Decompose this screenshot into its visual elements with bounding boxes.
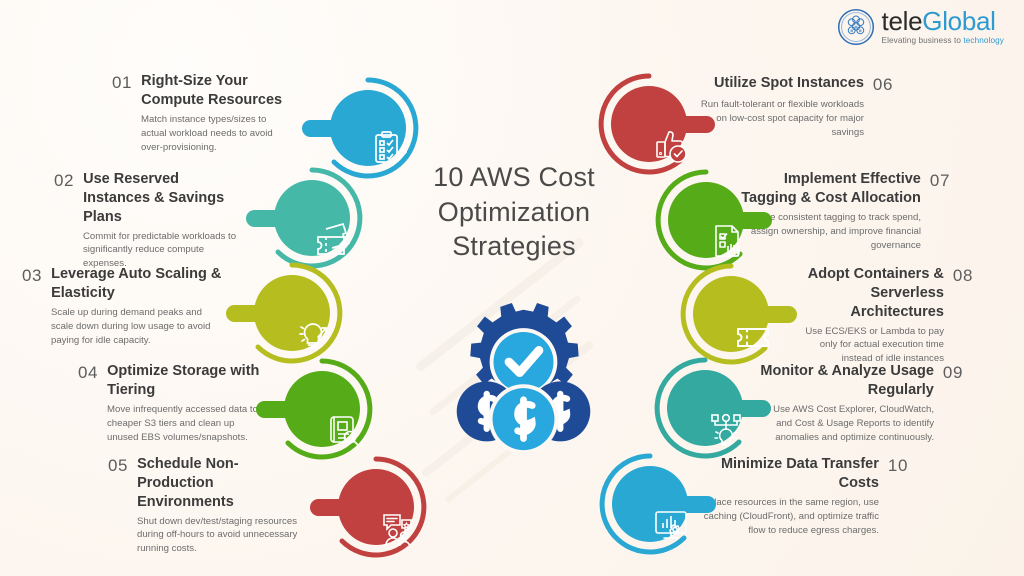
item-description: Run fault-tolerant or flexible workloads… bbox=[698, 98, 864, 140]
badge-07[interactable] bbox=[654, 168, 758, 272]
badge-03[interactable] bbox=[240, 261, 344, 365]
item-number: 08 bbox=[953, 265, 973, 286]
badge-06[interactable] bbox=[597, 72, 701, 176]
badge-01[interactable] bbox=[316, 76, 420, 180]
brand-logo: teleGlobal Elevating business to technol… bbox=[837, 8, 1004, 46]
item-title: Implement Effective Tagging & Cost Alloc… bbox=[740, 170, 921, 208]
item-title: Monitor & Analyze Usage Regularly bbox=[758, 362, 934, 400]
badge-02[interactable] bbox=[260, 166, 364, 270]
brand-tagline: Elevating business to technology bbox=[882, 37, 1004, 45]
item-description: Place resources in the same region, use … bbox=[700, 496, 879, 538]
item-description: Shut down dev/test/staging resources dur… bbox=[137, 515, 313, 557]
item-number: 04 bbox=[78, 362, 98, 383]
item-number: 02 bbox=[54, 170, 74, 191]
item-description: Match instance types/sizes to actual wor… bbox=[141, 113, 292, 155]
item-title: Minimize Data Transfer Costs bbox=[700, 455, 879, 493]
item-title: Utilize Spot Instances bbox=[714, 74, 864, 93]
badge-09[interactable] bbox=[653, 356, 757, 460]
item-title: Schedule Non-Production Environments bbox=[137, 455, 313, 512]
item-number: 03 bbox=[22, 265, 42, 286]
badge-08[interactable] bbox=[679, 262, 783, 366]
item-number: 10 bbox=[888, 455, 908, 476]
item-number: 07 bbox=[930, 170, 950, 191]
item-number: 01 bbox=[112, 72, 132, 93]
item-number: 09 bbox=[943, 362, 963, 383]
item-title: Optimize Storage with Tiering bbox=[107, 362, 268, 400]
gear-check-dollar-coins-icon bbox=[446, 302, 601, 452]
item-description: Use ECS/EKS or Lambda to pay only for ac… bbox=[788, 325, 944, 367]
network-cluster-icon bbox=[837, 8, 875, 46]
badge-05[interactable] bbox=[324, 455, 428, 559]
item-title: Use Reserved Instances & Savings Plans bbox=[83, 170, 244, 227]
item-number: 06 bbox=[873, 74, 893, 95]
infographic-canvas: teleGlobal Elevating business to technol… bbox=[0, 0, 1024, 576]
badge-10[interactable] bbox=[598, 452, 702, 556]
item-description: Scale up during demand peaks and scale d… bbox=[51, 306, 222, 348]
item-description: Use AWS Cost Explorer, CloudWatch, and C… bbox=[758, 403, 934, 445]
brand-name: teleGlobal bbox=[882, 8, 1004, 34]
item-number: 05 bbox=[108, 455, 128, 476]
badge-04[interactable] bbox=[270, 357, 374, 461]
item-title: Leverage Auto Scaling & Elasticity bbox=[51, 265, 222, 303]
item-title: Right-Size Your Compute Resources bbox=[141, 72, 292, 110]
item-title: Adopt Containers & Serverless Architectu… bbox=[788, 265, 944, 322]
item-description: Move infrequently accessed data to cheap… bbox=[107, 403, 268, 445]
